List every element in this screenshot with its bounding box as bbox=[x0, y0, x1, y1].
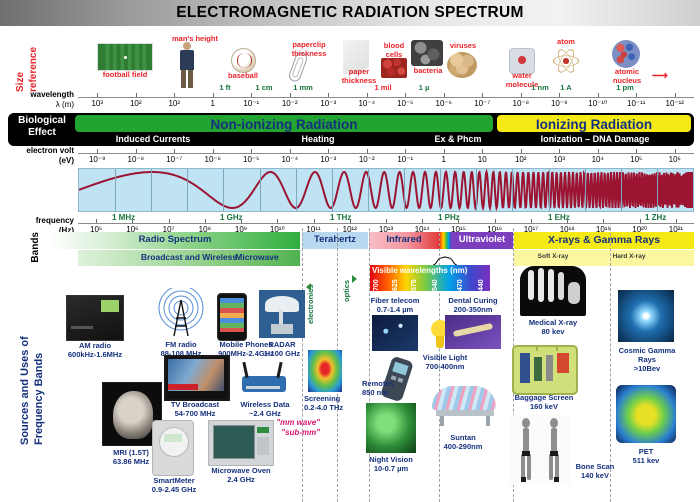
scale-mark-1pm: 1 pm bbox=[612, 84, 638, 93]
freq-marker-1ghz: 1 GHz bbox=[220, 213, 243, 222]
caption-pet: PET bbox=[616, 447, 676, 456]
ev-axis-line bbox=[78, 153, 694, 154]
axis-tick-label: 10⁴ bbox=[583, 155, 613, 164]
waveform-gridline bbox=[368, 169, 369, 211]
guide-line-gamma-start bbox=[610, 228, 611, 502]
axis-tick bbox=[386, 219, 387, 223]
electronics-arrow-icon bbox=[306, 283, 311, 291]
axis-tick-label: 10⁻⁶ bbox=[198, 155, 228, 164]
label-paperclip-thickness: paperclip thickness bbox=[286, 41, 332, 58]
axis-tick-label: 10⁻⁹ bbox=[544, 99, 574, 108]
label-blood-cells: blood cells bbox=[376, 42, 412, 59]
value-wireless-data: ~2.4 GHz bbox=[230, 409, 300, 418]
axis-tick bbox=[205, 219, 206, 223]
blood-cells-image bbox=[381, 58, 407, 78]
axis-tick-label: 10⁻² bbox=[275, 99, 305, 108]
band-terahertz[interactable]: Terahertz bbox=[302, 232, 368, 249]
visible-value-540: 540 bbox=[432, 275, 439, 291]
axis-tick bbox=[97, 93, 98, 97]
emr-spectrum-poster: ELECTROMAGNETIC RADIATION SPECTRUM Size … bbox=[0, 0, 700, 502]
caption-medical-xray: Medical X-ray bbox=[516, 318, 590, 327]
tanning-bed-image bbox=[428, 380, 500, 428]
axis-tick bbox=[675, 149, 676, 153]
axis-tick-label: 10⁻³ bbox=[313, 99, 343, 108]
axis-tick-label: 10 bbox=[467, 155, 497, 164]
axis-tick-label: 10⁻⁸ bbox=[121, 155, 151, 164]
label-mans-height: man's height bbox=[160, 35, 230, 44]
axis-tick-label: 10³ bbox=[544, 155, 574, 164]
band-label-hard-xray: Hard X-ray bbox=[590, 253, 668, 260]
atom-image bbox=[553, 48, 579, 74]
caption-night-vision: Night Vision bbox=[360, 455, 422, 464]
value-visible-light: 700-400nm bbox=[412, 362, 478, 371]
caption-wireless-data: Wireless Data bbox=[230, 400, 300, 409]
axis-tick bbox=[636, 93, 637, 97]
mobile-phone-image bbox=[217, 293, 247, 341]
axis-tick-label: 10⁻⁵ bbox=[236, 155, 266, 164]
medical-xray-image bbox=[520, 266, 586, 316]
band-label-radio-spectrum: Radio Spectrum bbox=[50, 234, 300, 245]
ionizing-label: Ionizing Radiation bbox=[497, 117, 691, 132]
axis-tick bbox=[174, 93, 175, 97]
scale-mark-1ft: 1 ft bbox=[212, 84, 238, 93]
sub-band-heating: Heating bbox=[258, 134, 378, 144]
side-label-optics: optics bbox=[342, 268, 351, 302]
spectrum-continues-arrow: ⟶ bbox=[652, 69, 668, 82]
caption-dental-curing: Dental Curing bbox=[440, 296, 506, 305]
axis-tick bbox=[482, 93, 483, 97]
scale-mark-1mm: 1 mm bbox=[290, 84, 316, 93]
value-am-radio: 600kHz-1.6MHz bbox=[56, 350, 134, 359]
waveform-gridline bbox=[476, 169, 477, 211]
axis-tick bbox=[405, 149, 406, 153]
guide-line-terahertz-start bbox=[302, 228, 303, 502]
axis-tick-label: 10⁻⁶ bbox=[429, 99, 459, 108]
dental-curing-image bbox=[445, 315, 501, 349]
band-label-soft-xray: Soft X-ray bbox=[514, 253, 592, 260]
axis-tick bbox=[603, 219, 604, 223]
wireless-router-image bbox=[234, 362, 292, 396]
value-remotes: 850 nm bbox=[362, 388, 406, 397]
value-tv-broadcast: 54-700 MHz bbox=[160, 409, 230, 418]
visible-value-470: 470 bbox=[457, 275, 464, 291]
waveform-gridline bbox=[621, 169, 622, 211]
axis-tick bbox=[444, 149, 445, 153]
band-label-terahertz: Terahertz bbox=[302, 234, 368, 245]
waveform-gridline bbox=[115, 169, 116, 211]
caption-remotes: Remotes bbox=[362, 379, 406, 388]
axis-tick bbox=[495, 219, 496, 223]
atomic-nucleus-image bbox=[612, 40, 640, 68]
caption-fiber-telecom: Fiber telecom bbox=[364, 296, 426, 305]
scale-mark-1micron: 1 µ bbox=[411, 84, 437, 93]
value-screening: 0.2-4.0 THz bbox=[304, 403, 356, 412]
axis-tick bbox=[241, 219, 242, 223]
axis-tick bbox=[213, 93, 214, 97]
freq-marker-1zhz: 1 ZHz bbox=[645, 213, 666, 222]
axis-tick bbox=[213, 149, 214, 153]
axis-tick-label: 10⁻⁵ bbox=[390, 99, 420, 108]
axis-tick bbox=[482, 149, 483, 153]
ev-axis-name: electron volt bbox=[8, 146, 74, 155]
band-infrared[interactable]: Infrared bbox=[369, 232, 439, 249]
caption-suntan: Suntan bbox=[432, 433, 494, 442]
baseball-image bbox=[231, 48, 256, 73]
frequency-axis-line bbox=[78, 223, 694, 224]
waveform-gridline bbox=[549, 169, 550, 211]
scale-mark-1nm: 1 nm bbox=[527, 84, 553, 93]
ionizing-band: Ionizing Radiation bbox=[496, 114, 692, 133]
waveform-gridline bbox=[187, 169, 188, 211]
axis-tick bbox=[328, 149, 329, 153]
non-ionizing-label: Non-ionizing Radiation bbox=[75, 117, 493, 132]
caption-tv-broadcast: TV Broadcast bbox=[160, 400, 230, 409]
axis-tick-label: 10⁻⁴ bbox=[352, 99, 382, 108]
waveform-gridline bbox=[585, 169, 586, 211]
axis-tick-label: 10⁻⁴ bbox=[275, 155, 305, 164]
axis-tick-label: 10⁻² bbox=[352, 155, 382, 164]
axis-tick bbox=[136, 149, 137, 153]
axis-tick bbox=[567, 219, 568, 223]
value-fiber-telecom: 0.7-1.4 µm bbox=[364, 305, 426, 314]
viruses-image bbox=[447, 52, 477, 78]
baggage-screen-image bbox=[512, 345, 578, 395]
axis-tick bbox=[367, 93, 368, 97]
axis-tick bbox=[559, 93, 560, 97]
scale-mark-1mil: 1 mil bbox=[370, 84, 396, 93]
bone-scan-image bbox=[510, 415, 570, 485]
axis-tick bbox=[531, 219, 532, 223]
axis-tick bbox=[96, 219, 97, 223]
visible-wavelengths-title: Visible wavelengths (nm) bbox=[372, 266, 488, 275]
wavelength-axis-name: wavelength bbox=[8, 90, 74, 99]
night-vision-image bbox=[366, 403, 416, 453]
sub-band-induced-currents: Induced Currents bbox=[78, 134, 228, 144]
waveform-gridline bbox=[260, 169, 261, 211]
radar-dish-image bbox=[259, 290, 305, 338]
optics-arrow-icon bbox=[352, 275, 357, 283]
axis-tick-label: 10⁻¹ bbox=[236, 99, 266, 108]
axis-tick bbox=[290, 93, 291, 97]
annotation-mm-wave: "mm wave" bbox=[252, 418, 320, 428]
label-baseball: baseball bbox=[222, 72, 264, 81]
sources-row-label: Sources and Uses of Frequency Bands bbox=[18, 305, 46, 445]
caption-cosmic-gamma: Cosmic Gamma Rays bbox=[612, 346, 682, 364]
sub-band-ex-phcm: Ex & Phcm bbox=[408, 134, 508, 144]
axis-tick-label: 10² bbox=[506, 155, 536, 164]
waveform-gridline bbox=[404, 169, 405, 211]
caption-baggage-screen: Baggage Screen bbox=[506, 393, 582, 402]
caption-am-radio: AM radio bbox=[56, 341, 134, 350]
biological-effect-row: Biological Effect Non-ionizing Radiation… bbox=[8, 113, 694, 146]
visible-value-700: 700 bbox=[373, 275, 380, 291]
value-microwave-oven: 2.4 GHz bbox=[204, 475, 278, 484]
caption-fm-radio: FM radio bbox=[148, 340, 214, 349]
pet-scan-image bbox=[616, 385, 676, 443]
man-figure-image bbox=[178, 42, 196, 88]
value-cosmic-gamma: >10Bev bbox=[612, 364, 682, 373]
tv-broadcast-image bbox=[164, 355, 230, 401]
caption-radar: RADAR bbox=[259, 340, 305, 349]
cosmic-gamma-image bbox=[618, 290, 674, 342]
axis-tick bbox=[521, 149, 522, 153]
side-label-electronics: electronics bbox=[306, 268, 315, 324]
axis-tick bbox=[169, 219, 170, 223]
axis-tick-label: 10⁻³ bbox=[313, 155, 343, 164]
axis-tick bbox=[458, 219, 459, 223]
axis-tick bbox=[405, 93, 406, 97]
axis-tick bbox=[422, 219, 423, 223]
visible-value-440: 440 bbox=[478, 275, 485, 291]
value-radar: 1-100 GHz bbox=[255, 349, 309, 358]
football-field-image bbox=[97, 43, 153, 71]
axis-tick bbox=[367, 149, 368, 153]
band-xrays-gamma[interactable]: X-rays & Gamma Rays bbox=[514, 232, 694, 249]
axis-tick bbox=[444, 93, 445, 97]
axis-tick-label: 10⁻¹⁰ bbox=[583, 99, 613, 108]
axis-tick bbox=[328, 93, 329, 97]
thz-screening-image bbox=[308, 350, 342, 392]
waveform-curve bbox=[79, 169, 693, 211]
axis-tick-label: 10² bbox=[159, 99, 189, 108]
axis-tick-label: 10⁶ bbox=[660, 155, 690, 164]
poster-title-bar: ELECTROMAGNETIC RADIATION SPECTRUM bbox=[0, 0, 700, 26]
axis-tick bbox=[636, 149, 637, 153]
axis-tick-label: 1 bbox=[429, 155, 459, 164]
annotation-sub-mm: "sub-mm" bbox=[252, 428, 320, 438]
caption-screening: Screening bbox=[304, 394, 348, 403]
axis-tick bbox=[174, 149, 175, 153]
axis-tick bbox=[521, 93, 522, 97]
value-night-vision: 10-0.7 µm bbox=[360, 464, 422, 473]
waveform-gridline bbox=[151, 169, 152, 211]
band-label-infrared: Infrared bbox=[369, 234, 439, 245]
sub-band-ionization: Ionization – DNA Damage bbox=[498, 134, 692, 144]
axis-tick-label: 10⁻⁸ bbox=[506, 99, 536, 108]
wavelength-axis-unit: λ (m) bbox=[8, 100, 74, 109]
axis-tick bbox=[350, 219, 351, 223]
axis-tick bbox=[277, 219, 278, 223]
band-microwave[interactable]: Microwave bbox=[214, 250, 300, 266]
visible-value-575: 575 bbox=[411, 275, 418, 291]
waveform-gridline bbox=[332, 169, 333, 211]
caption-microwave-oven: Microwave Oven bbox=[204, 466, 278, 475]
axis-tick bbox=[598, 149, 599, 153]
value-medical-xray: 80 kev bbox=[516, 327, 590, 336]
axis-tick bbox=[598, 93, 599, 97]
waveform-gridline bbox=[223, 169, 224, 211]
biological-effect-label: Biological Effect bbox=[12, 115, 72, 139]
axis-tick-label: 10⁻⁷ bbox=[159, 155, 189, 164]
page-title: ELECTROMAGNETIC RADIATION SPECTRUM bbox=[0, 4, 700, 22]
band-radio-spectrum[interactable]: Radio Spectrum bbox=[50, 232, 300, 249]
non-ionizing-band: Non-ionizing Radiation bbox=[74, 114, 494, 133]
axis-tick-label: 10³ bbox=[82, 99, 112, 108]
axis-tick bbox=[251, 149, 252, 153]
axis-tick bbox=[559, 149, 560, 153]
freq-marker-1phz: 1 PHz bbox=[438, 213, 460, 222]
axis-tick-label: 10² bbox=[121, 99, 151, 108]
band-label-ultraviolet: Ultraviolet bbox=[451, 234, 513, 245]
visible-value-625: 625 bbox=[392, 275, 399, 291]
value-suntan: 400-290nm bbox=[432, 442, 494, 451]
axis-tick bbox=[290, 149, 291, 153]
scale-mark-1A: 1 A bbox=[553, 84, 579, 93]
freq-marker-1thz: 1 THz bbox=[330, 213, 351, 222]
band-label-microwave: Microwave bbox=[214, 252, 300, 262]
value-bone-scan: 140 keV bbox=[562, 471, 628, 480]
value-pet: 511 kev bbox=[616, 456, 676, 465]
axis-tick-label: 10⁻¹ bbox=[390, 155, 420, 164]
ev-axis-unit: (eV) bbox=[8, 156, 74, 165]
wavelength-axis-line bbox=[78, 97, 694, 98]
axis-tick bbox=[251, 93, 252, 97]
smartmeter-image bbox=[152, 420, 194, 476]
axis-tick-label: 10⁻¹² bbox=[660, 99, 690, 108]
axis-tick bbox=[136, 93, 137, 97]
value-smartmeter: 0.9-2.45 GHz bbox=[142, 485, 206, 494]
caption-visible-light: Visible Light bbox=[412, 353, 478, 362]
axis-tick-label: 10⁻⁷ bbox=[467, 99, 497, 108]
scale-mark-1cm: 1 cm bbox=[251, 84, 277, 93]
axis-tick bbox=[314, 219, 315, 223]
fiber-optic-image bbox=[372, 315, 418, 351]
bands-row-label: Bands bbox=[30, 232, 44, 272]
caption-smartmeter: SmartMeter bbox=[146, 476, 202, 485]
label-viruses: viruses bbox=[442, 42, 484, 51]
value-dental-curing: 200-350nm bbox=[440, 305, 506, 314]
label-football-field: football field bbox=[92, 71, 158, 80]
axis-tick-label: 1 bbox=[198, 99, 228, 108]
band-visible-strip bbox=[439, 232, 451, 249]
waveform-gridline bbox=[440, 169, 441, 211]
label-bacteria: bacteria bbox=[409, 67, 447, 76]
waveform-panel bbox=[78, 168, 694, 212]
axis-tick bbox=[675, 93, 676, 97]
waveform-gridline bbox=[657, 169, 658, 211]
bacteria-image bbox=[411, 40, 443, 66]
axis-tick bbox=[97, 149, 98, 153]
axis-tick-label: 10⁻¹¹ bbox=[621, 99, 651, 108]
axis-tick bbox=[676, 219, 677, 223]
axis-tick bbox=[640, 219, 641, 223]
waveform-gridline bbox=[512, 169, 513, 211]
frequency-axis-name: frequency bbox=[8, 216, 74, 225]
axis-tick-label: 10⁻⁹ bbox=[82, 155, 112, 164]
fm-radio-tower-image bbox=[156, 288, 206, 338]
label-atom: atom bbox=[549, 38, 583, 47]
value-baggage-screen: 160 keV bbox=[506, 402, 582, 411]
am-radio-image bbox=[66, 295, 124, 341]
size-reference-label: Size reference bbox=[14, 30, 44, 92]
axis-tick bbox=[132, 219, 133, 223]
band-ultraviolet[interactable]: Ultraviolet bbox=[451, 232, 513, 249]
axis-tick-label: 10⁵ bbox=[621, 155, 651, 164]
waveform-gridline bbox=[296, 169, 297, 211]
band-label-xrays-gamma: X-rays & Gamma Rays bbox=[514, 234, 694, 246]
